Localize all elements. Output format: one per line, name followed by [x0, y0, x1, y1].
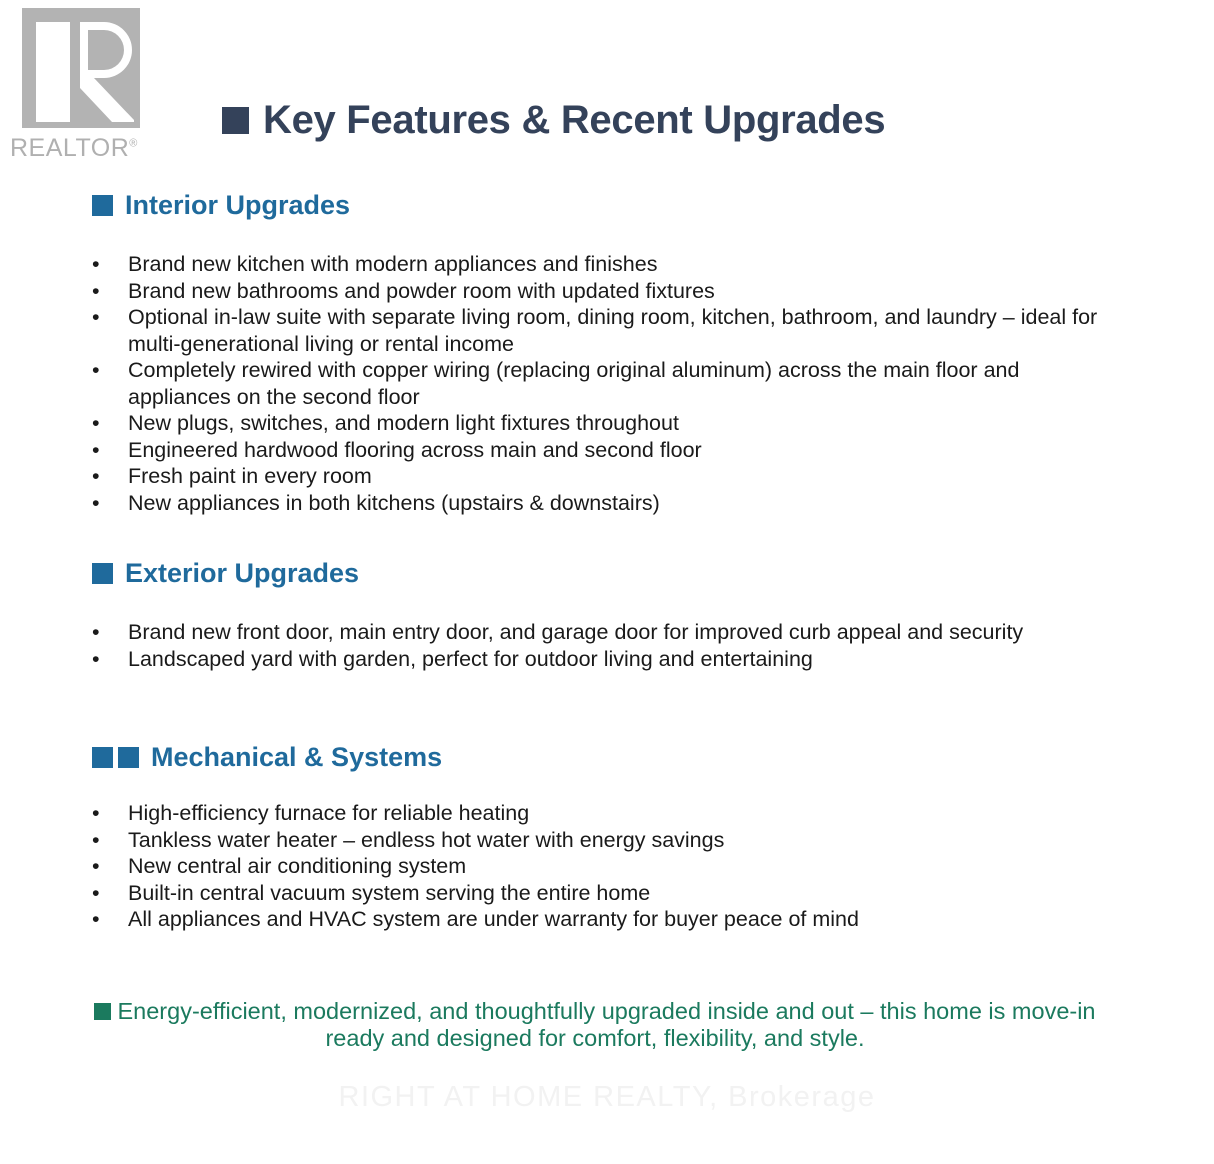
list-item: •Brand new bathrooms and powder room wit… [0, 278, 1214, 305]
bullet-dot-icon: • [92, 619, 100, 646]
list-item: •Brand new kitchen with modern appliance… [0, 251, 1214, 278]
list-item-text: Landscaped yard with garden, perfect for… [128, 647, 813, 671]
list-item: •Fresh paint in every room [0, 463, 1214, 490]
realtor-r-mark [8, 8, 140, 134]
section-exterior-upgrades: Exterior Upgrades •Brand new front door,… [0, 560, 1214, 672]
section-square-bullet-icon [92, 195, 113, 216]
section-heading-text: Interior Upgrades [125, 192, 350, 219]
section-heading-exterior: Exterior Upgrades [0, 560, 1214, 587]
section-heading-interior: Interior Upgrades [0, 192, 1214, 219]
list-item: •All appliances and HVAC system are unde… [0, 906, 1214, 933]
bullet-dot-icon: • [92, 646, 100, 673]
bullet-dot-icon: • [92, 906, 100, 933]
list-item: •Engineered hardwood flooring across mai… [0, 437, 1214, 464]
list-item-text: Built-in central vacuum system serving t… [128, 881, 650, 905]
list-item: •Landscaped yard with garden, perfect fo… [0, 646, 1214, 673]
page-title: Key Features & Recent Upgrades [222, 100, 885, 140]
section-square-bullet-icon [92, 747, 113, 768]
list-item-text: Optional in-law suite with separate livi… [128, 305, 1097, 356]
list-item: •New appliances in both kitchens (upstai… [0, 490, 1214, 517]
page-title-text: Key Features & Recent Upgrades [263, 100, 885, 140]
feature-list-mechanical: •High-efficiency furnace for reliable he… [0, 800, 1214, 933]
list-item-text: Tankless water heater – endless hot wate… [128, 828, 724, 852]
bullet-dot-icon: • [92, 490, 100, 517]
closing-statement-text: Energy-efficient, modernized, and though… [117, 998, 1095, 1051]
bullet-dot-icon: • [92, 827, 100, 854]
section-interior-upgrades: Interior Upgrades •Brand new kitchen wit… [0, 192, 1214, 516]
bullet-dot-icon: • [92, 463, 100, 490]
realtor-wordmark-text: REALTOR [10, 134, 129, 162]
list-item: •New plugs, switches, and modern light f… [0, 410, 1214, 437]
list-item-text: Brand new kitchen with modern appliances… [128, 252, 657, 276]
brokerage-watermark: RIGHT AT HOME REALTY, Brokerage [0, 1081, 1214, 1114]
realtor-wordmark: REALTOR® [10, 134, 150, 163]
section-heading-mechanical: Mechanical & Systems [0, 744, 1214, 771]
section-heading-text: Mechanical & Systems [151, 744, 442, 771]
list-item: •Optional in-law suite with separate liv… [0, 304, 1214, 357]
list-item: •New central air conditioning system [0, 853, 1214, 880]
section-square-bullet-icon [92, 563, 113, 584]
list-item-text: New plugs, switches, and modern light fi… [128, 411, 679, 435]
list-item: •Brand new front door, main entry door, … [0, 619, 1214, 646]
realtor-logo: REALTOR® [8, 8, 140, 166]
bullet-dot-icon: • [92, 304, 100, 331]
feature-list-interior: •Brand new kitchen with modern appliance… [0, 251, 1214, 516]
list-item-text: High-efficiency furnace for reliable hea… [128, 801, 529, 825]
list-item-text: All appliances and HVAC system are under… [128, 907, 859, 931]
list-item-text: Brand new bathrooms and powder room with… [128, 279, 715, 303]
bullet-dot-icon: • [92, 357, 100, 384]
bullet-dot-icon: • [92, 251, 100, 278]
closing-square-bullet-icon [94, 1003, 111, 1020]
list-item-text: Brand new front door, main entry door, a… [128, 620, 1023, 644]
bullet-dot-icon: • [92, 278, 100, 305]
bullet-dot-icon: • [92, 853, 100, 880]
list-item-text: Fresh paint in every room [128, 464, 372, 488]
list-item-text: New appliances in both kitchens (upstair… [128, 491, 660, 515]
section-heading-text: Exterior Upgrades [125, 560, 359, 587]
closing-statement: Energy-efficient, modernized, and though… [90, 998, 1100, 1052]
list-item-text: Engineered hardwood flooring across main… [128, 438, 702, 462]
bullet-dot-icon: • [92, 800, 100, 827]
bullet-dot-icon: • [92, 410, 100, 437]
bullet-dot-icon: • [92, 437, 100, 464]
bullet-dot-icon: • [92, 880, 100, 907]
list-item-text: Completely rewired with copper wiring (r… [128, 358, 1019, 409]
section-mechanical-systems: Mechanical & Systems •High-efficiency fu… [0, 744, 1214, 933]
list-item: •High-efficiency furnace for reliable he… [0, 800, 1214, 827]
list-item-text: New central air conditioning system [128, 854, 466, 878]
list-item: •Tankless water heater – endless hot wat… [0, 827, 1214, 854]
section-square-bullet-icon-secondary [118, 747, 139, 768]
feature-list-exterior: •Brand new front door, main entry door, … [0, 619, 1214, 672]
list-item: •Completely rewired with copper wiring (… [0, 357, 1214, 410]
title-square-bullet-icon [222, 107, 249, 134]
list-item: •Built-in central vacuum system serving … [0, 880, 1214, 907]
registered-trademark-icon: ® [129, 138, 138, 150]
